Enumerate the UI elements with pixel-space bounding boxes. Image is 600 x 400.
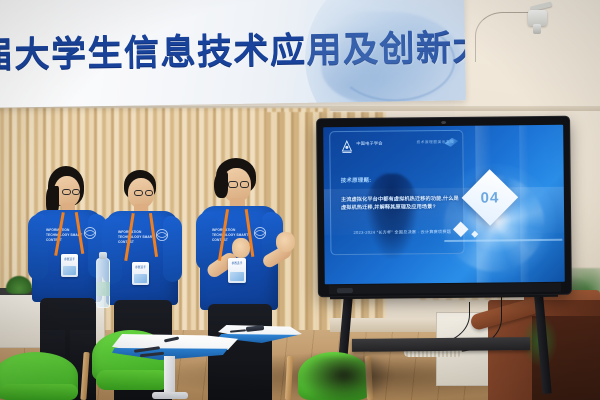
event-banner: 届大学生信息技术应用及创新大赛: [0, 0, 466, 108]
potted-plant-left: [6, 276, 32, 294]
badge-graphic: [63, 266, 76, 275]
presenter-silhouette: [365, 173, 420, 260]
participant-badge: 参赛选手: [228, 258, 246, 283]
panel-bottom-bezel: [329, 283, 561, 294]
slide-question-text: 主流虚拟化平台中都有虚拟机热迁移的功能,什么是虚拟机热迁移,并解释其原理及应用场…: [341, 195, 459, 212]
glasses-right-lens: [145, 190, 153, 196]
panel-camera-icon: [441, 121, 446, 124]
foreground-audience-blur: [296, 356, 392, 400]
badge-graphic: [230, 272, 244, 281]
water-bottle-cap: [99, 252, 107, 259]
slide-number-label: 04: [470, 177, 510, 217]
screen-vertical-highlight-2: [519, 125, 530, 282]
water-bottle-label: [96, 282, 110, 296]
badge-graphic: [134, 274, 147, 283]
security-camera-lens-icon: [533, 24, 541, 34]
chair-seat: [96, 370, 170, 390]
camera-wire: [475, 12, 533, 62]
participant-badge: 参赛选手: [61, 254, 78, 277]
badge-text: 参赛选手: [132, 265, 149, 269]
participant-badge: 参赛选手: [132, 262, 149, 285]
chair-seat: [0, 384, 78, 400]
glasses: [134, 190, 143, 196]
glasses-right-lens: [72, 189, 80, 195]
organization-logo-icon: [340, 140, 353, 154]
slide-kicker: 技术原理题:: [341, 176, 372, 184]
interactive-flat-panel[interactable]: 中国电子学会 技术原理题演示文稿 技术原理题: 主流虚拟化平台中都有虚拟机热迁移…: [317, 117, 571, 297]
badge-text: 参赛选手: [61, 257, 78, 261]
banner-title: 届大学生信息技术应用及创新大赛: [0, 20, 448, 78]
table-base: [152, 392, 188, 399]
organization-logo-label: 中国电子学会: [356, 141, 382, 147]
panel-power-button[interactable]: [337, 288, 353, 293]
shirt-logo-icon: [154, 228, 170, 242]
glasses-right-lens: [240, 181, 249, 188]
slide-content-card: 中国电子学会 技术原理题演示文稿 技术原理题: 主流虚拟化平台中都有虚拟机热迁移…: [329, 130, 464, 255]
shirt-logo-icon: [252, 226, 268, 240]
glasses: [228, 181, 238, 188]
arm-left: [28, 214, 48, 280]
table-leg: [164, 356, 175, 396]
slide-subtitle: 2023-2024 "长方杯" 全国总决赛 · 云计算赛项赛题: [343, 229, 461, 236]
hair-side: [214, 172, 228, 198]
panel-screen[interactable]: 中国电子学会 技术原理题演示文稿 技术原理题: 主流虚拟化平台中都有虚拟机热迁移…: [323, 125, 565, 285]
banner-graphic: [320, 10, 461, 104]
badge-text: 参赛选手: [228, 261, 246, 265]
presentation-scene-photo: 届大学生信息技术应用及创新大赛: [0, 0, 600, 400]
hand-right: [276, 232, 295, 252]
arm-right: [163, 216, 182, 282]
shirt-logo-icon: [82, 226, 98, 240]
glasses: [62, 189, 71, 195]
tv-stand-shelf: [352, 337, 530, 352]
banner-arc-graphic: [335, 20, 456, 102]
